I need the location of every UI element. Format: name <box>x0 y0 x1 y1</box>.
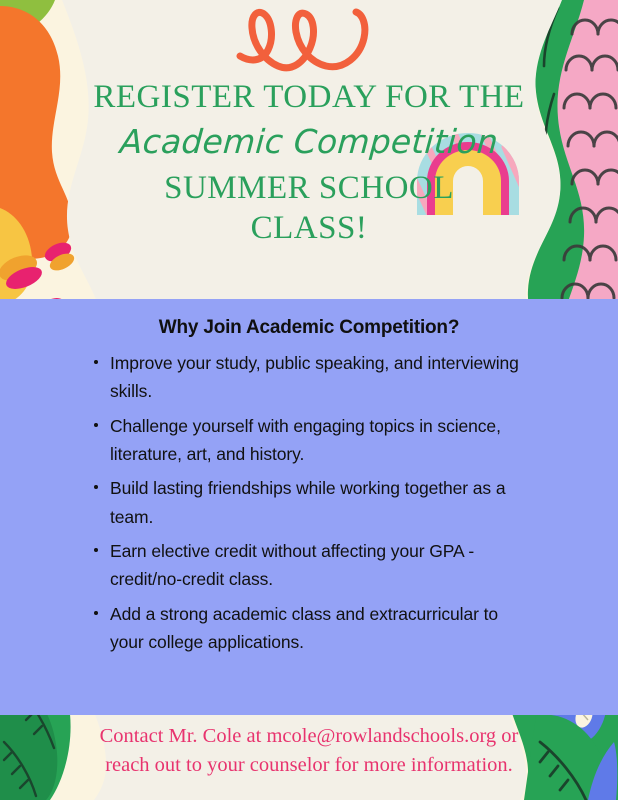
headline-line-3: SUMMER SCHOOL <box>60 169 558 207</box>
headline-script-line: Academic Competition <box>58 120 559 165</box>
list-item: Add a strong academic class and extracur… <box>92 600 526 657</box>
poster-content: REGISTER TODAY FOR THE Academic Competit… <box>0 0 618 800</box>
bullet-icon <box>94 548 98 552</box>
bullet-icon <box>94 485 98 489</box>
benefits-content: Why Join Academic Competition? Improve y… <box>0 299 618 715</box>
contact-footer: Contact Mr. Cole at mcole@rowlandschools… <box>0 722 618 780</box>
headline-line-4: CLASS! <box>60 209 558 247</box>
poster-canvas: REGISTER TODAY FOR THE Academic Competit… <box>0 0 618 800</box>
contact-line-1: Contact Mr. Cole at mcole@rowlandschools… <box>58 722 560 751</box>
list-item-text: Add a strong academic class and extracur… <box>110 604 498 652</box>
headline-line-1: REGISTER TODAY FOR THE <box>60 78 558 116</box>
benefits-heading: Why Join Academic Competition? <box>92 317 526 339</box>
list-item-text: Challenge yourself with engaging topics … <box>110 416 501 464</box>
headline-block: REGISTER TODAY FOR THE Academic Competit… <box>0 78 618 247</box>
list-item: Improve your study, public speaking, and… <box>92 349 526 406</box>
list-item-text: Build lasting friendships while working … <box>110 478 505 526</box>
list-item: Build lasting friendships while working … <box>92 474 526 531</box>
list-item-text: Improve your study, public speaking, and… <box>110 353 519 401</box>
bullet-icon <box>94 611 98 615</box>
contact-line-2: reach out to your counselor for more inf… <box>58 751 560 780</box>
list-item: Challenge yourself with engaging topics … <box>92 412 526 469</box>
benefits-list: Improve your study, public speaking, and… <box>92 349 526 656</box>
list-item-text: Earn elective credit without affecting y… <box>110 541 474 589</box>
list-item: Earn elective credit without affecting y… <box>92 537 526 594</box>
coral-double-loop-squiggle-icon <box>234 4 384 78</box>
bullet-icon <box>94 360 98 364</box>
bullet-icon <box>94 423 98 427</box>
